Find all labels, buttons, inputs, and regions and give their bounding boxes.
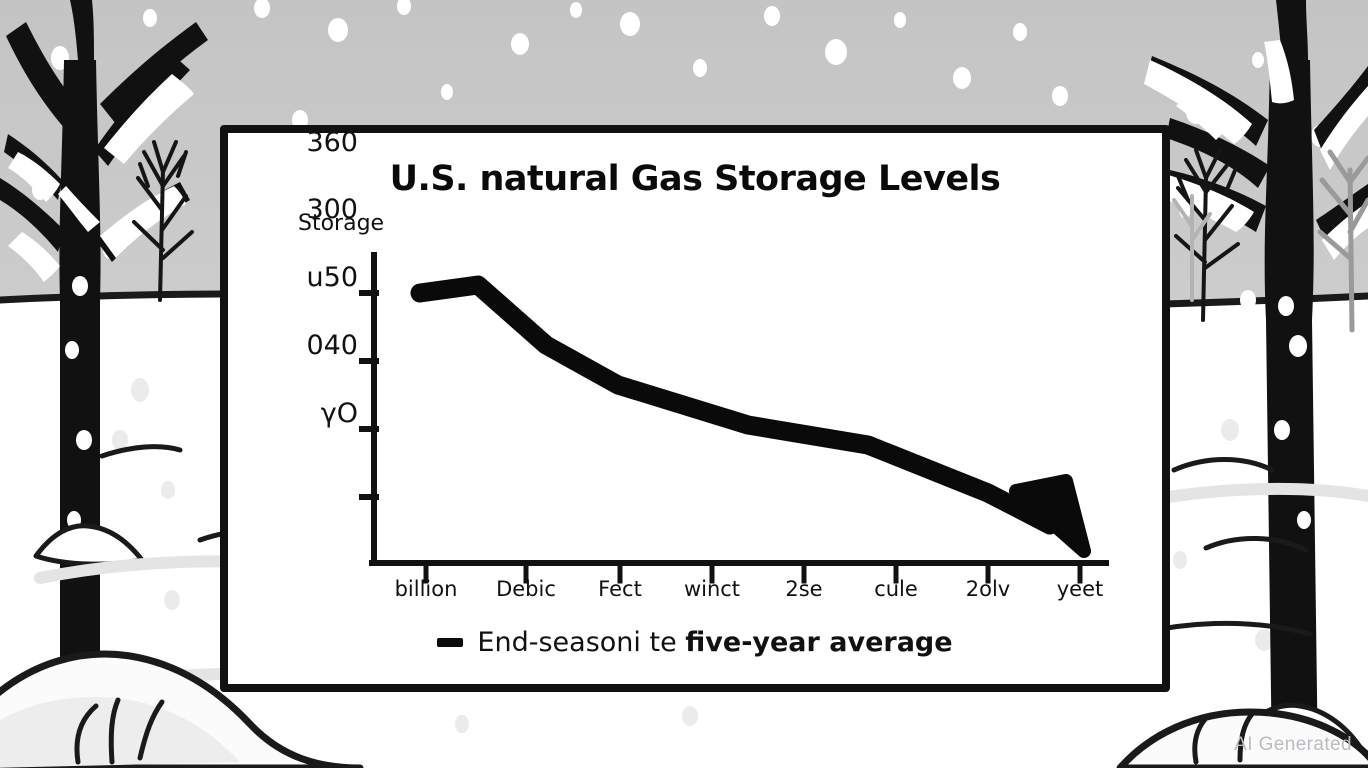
x-tick-label-4: 2se	[785, 577, 822, 601]
legend-label-bold: five-year average	[685, 627, 952, 658]
chart-plot-area	[228, 133, 1178, 700]
x-tick-label-7: yeet	[1057, 577, 1104, 601]
winter-chart-scene: U.S. natural Gas Storage Levels Storage …	[0, 0, 1368, 768]
legend-label: End-seasoni te five-year average	[477, 627, 952, 658]
x-tick-label-5: cule	[874, 577, 918, 601]
x-tick-label-3: winct	[684, 577, 740, 601]
chart-legend: End-seasoni te five-year average	[228, 627, 1162, 658]
x-tick-label-6: 2olv	[966, 577, 1010, 601]
x-tick-label-1: Debic	[496, 577, 556, 601]
chart-panel: U.S. natural Gas Storage Levels Storage …	[220, 125, 1170, 692]
legend-dash-icon	[437, 638, 463, 647]
x-tick-label-0: billion	[395, 577, 458, 601]
series-line-end-season-five-year-average	[420, 285, 1050, 525]
ai-generated-watermark: AI Generated	[1234, 734, 1352, 756]
x-tick-label-2: Fect	[598, 577, 642, 601]
legend-label-plain: End-seasoni te	[477, 627, 685, 658]
